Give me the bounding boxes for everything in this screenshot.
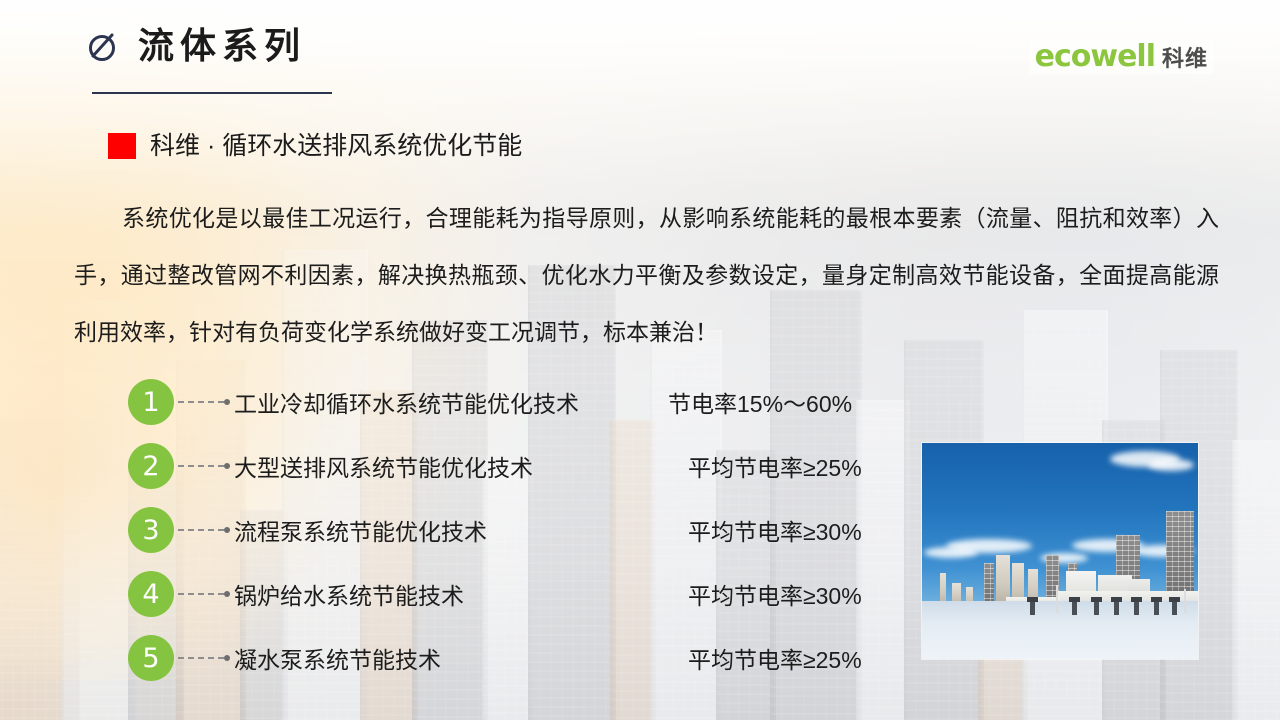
dashed-connector-icon — [178, 401, 230, 403]
section-heading-label: 科维 · 循环水送排风系统优化节能 — [150, 134, 522, 159]
list-item-value: 平均节电率≥25% — [688, 641, 862, 675]
diameter-symbol-icon — [86, 29, 120, 63]
list-item: 1 工业冷却循环水系统节能优化技术 节电率15%～60% — [128, 370, 918, 434]
slide: 流体系列 ecowell 科维 科维 · 循环水送排风系统优化节能 系统优化是以… — [0, 0, 1280, 720]
list-number-badge: 4 — [128, 571, 174, 617]
list-item-value: 平均节电率≥30% — [688, 513, 862, 547]
technology-list: 1 工业冷却循环水系统节能优化技术 节电率15%～60% 2 大型送排风系统节能… — [128, 370, 918, 690]
list-item-value: 平均节电率≥30% — [688, 577, 862, 611]
dashed-connector-icon — [178, 465, 230, 467]
logo-text-cn: 科维 — [1162, 48, 1208, 70]
list-number-badge: 5 — [128, 635, 174, 681]
list-number-badge: 2 — [128, 443, 174, 489]
title-underline — [92, 92, 332, 94]
industrial-plant-photo — [922, 443, 1198, 659]
page-title: 流体系列 — [138, 28, 306, 64]
list-item-value: 节电率15%～60% — [668, 385, 852, 419]
list-item-label: 工业冷却循环水系统节能优化技术 — [234, 385, 579, 419]
list-item: 2 大型送排风系统节能优化技术 平均节电率≥25% — [128, 434, 918, 498]
section-heading: 科维 · 循环水送排风系统优化节能 — [108, 133, 522, 159]
slide-header: 流体系列 ecowell 科维 — [0, 0, 1280, 112]
brand-logo: ecowell 科维 — [1029, 40, 1214, 74]
list-item: 3 流程泵系统节能优化技术 平均节电率≥30% — [128, 498, 918, 562]
list-item: 4 锅炉给水系统节能技术 平均节电率≥30% — [128, 562, 918, 626]
logo-text-en: ecowell — [1035, 42, 1155, 72]
list-number-badge: 3 — [128, 507, 174, 553]
list-item-label: 大型送排风系统节能优化技术 — [234, 449, 533, 483]
list-item: 5 凝水泵系统节能技术 平均节电率≥25% — [128, 626, 918, 690]
list-item-label: 锅炉给水系统节能技术 — [234, 577, 464, 611]
list-number-badge: 1 — [128, 379, 174, 425]
dashed-connector-icon — [178, 529, 230, 531]
dashed-connector-icon — [178, 593, 230, 595]
list-item-label: 凝水泵系统节能技术 — [234, 641, 441, 675]
list-item-value: 平均节电率≥25% — [688, 449, 862, 483]
title-row: 流体系列 — [86, 28, 306, 64]
dashed-connector-icon — [178, 657, 230, 659]
body-paragraph: 系统优化是以最佳工况运行，合理能耗为指导原则，从影响系统能耗的最根本要素（流量、… — [74, 190, 1219, 361]
red-square-bullet-icon — [108, 133, 136, 159]
list-item-label: 流程泵系统节能优化技术 — [234, 513, 487, 547]
